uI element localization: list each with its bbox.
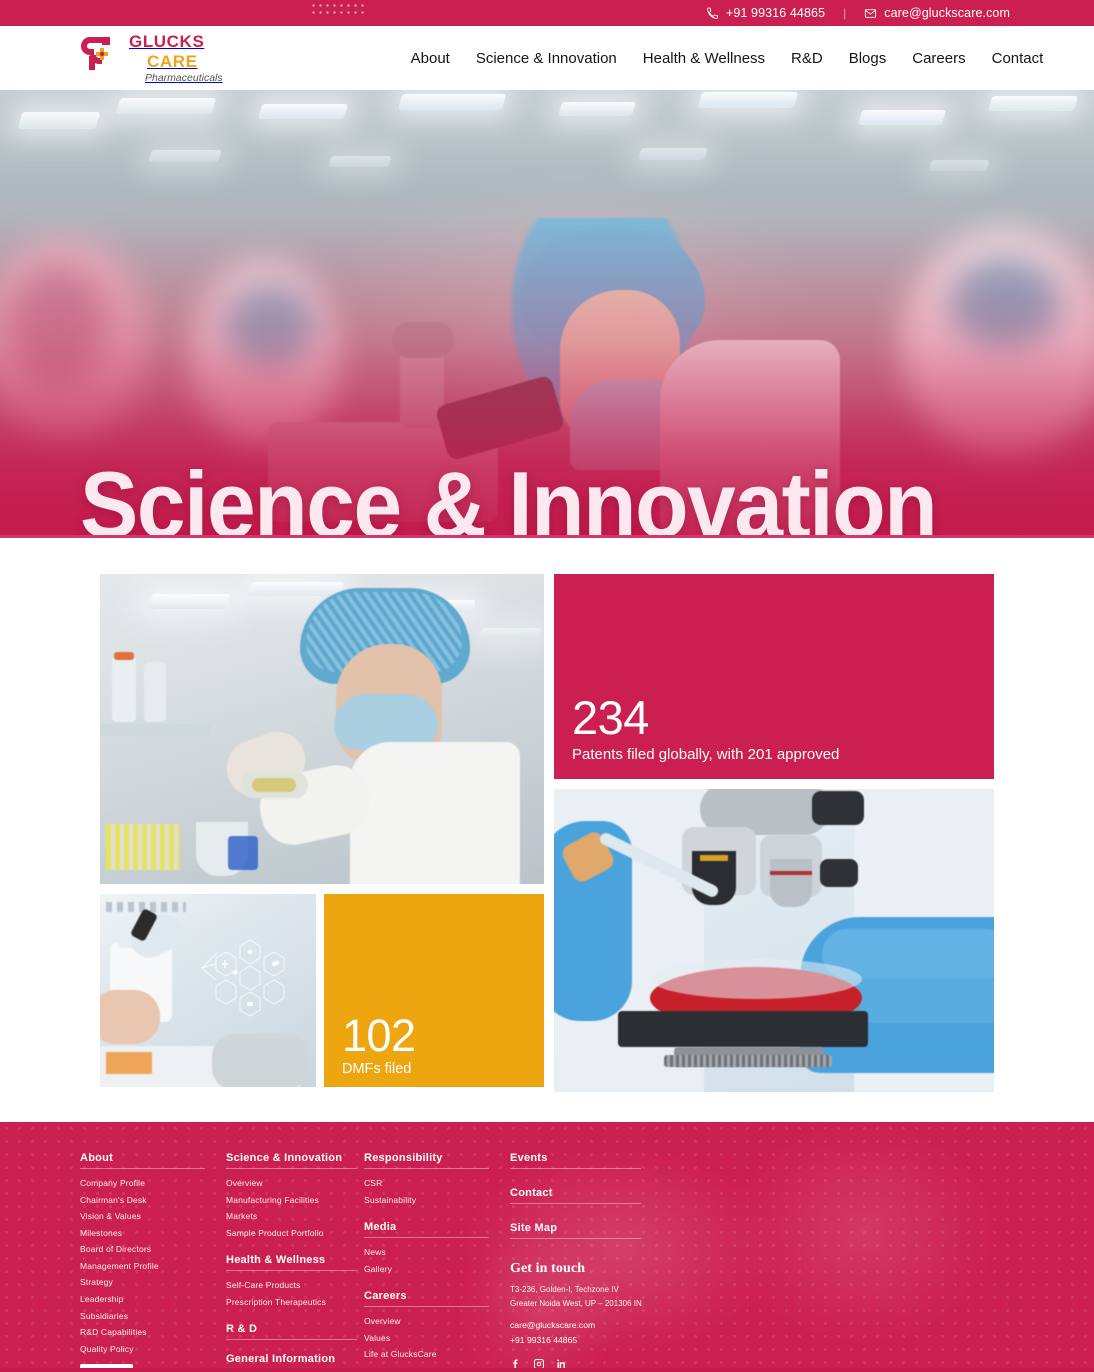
topbar-phone-text: +91 99316 44865 (726, 6, 825, 20)
footer-link-rnd-capabilities[interactable]: R&D Capabilities (80, 1324, 226, 1341)
grid-right-column: 234 Patents filed globally, with 201 app… (554, 574, 994, 1092)
main-content: 102 DMFs filed 234 Patents filed globall… (0, 538, 1094, 1122)
brand-line-3: Pharmaceuticals (129, 73, 223, 84)
pill-bottle-tech-photo (100, 894, 316, 1087)
footer-address-line-2: Greater Noida West, UP – 201306 IN (510, 1297, 650, 1311)
hero-bottom-rule (0, 535, 1094, 538)
footer-link-gallery[interactable]: Gallery (364, 1261, 510, 1278)
footer-heading-rnd: R & D (226, 1323, 357, 1340)
site-footer: About Company Profile Chairman's Desk Vi… (0, 1122, 1094, 1368)
footer-column-science: Science & Innovation Overview Manufactur… (226, 1152, 364, 1368)
footer-link-board-of-directors[interactable]: Board of Directors (80, 1241, 226, 1258)
site-header: GLUCKS CARE Pharmaceuticals About Scienc… (0, 26, 1094, 90)
topbar-email-link[interactable]: care@gluckscare.com (864, 6, 1010, 20)
footer-link-sustainability[interactable]: Sustainability (364, 1192, 510, 1209)
footer-link-company-profile[interactable]: Company Profile (80, 1175, 226, 1192)
hero-title: Science & Innovation (80, 458, 936, 538)
microscope-petri-photo (554, 789, 994, 1092)
stat-label-dmfs: DMFs filed (342, 1061, 544, 1077)
phone-icon (706, 7, 719, 20)
footer-link-vision-values[interactable]: Vision & Values (80, 1208, 226, 1225)
footer-link-management-profile[interactable]: Management Profile (80, 1258, 226, 1275)
brand-logo[interactable]: GLUCKS CARE Pharmaceuticals (80, 32, 223, 84)
footer-heading-about: About (80, 1152, 205, 1169)
footer-heading-responsibility: Responsibility (364, 1152, 489, 1169)
footer-bottom-bar: © 2025 All rights reserved by Gluckscare… (0, 1368, 1094, 1372)
scientist-petri-dish-photo (100, 574, 544, 884)
footer-email-link[interactable]: care@gluckscare.com (510, 1318, 650, 1333)
brand-line-2: CARE (129, 53, 223, 70)
top-contact-bar: +91 99316 44865 | care@gluckscare.com (0, 0, 1094, 26)
stat-card-patents: 234 Patents filed globally, with 201 app… (554, 574, 994, 779)
footer-link-milestones[interactable]: Milestones (80, 1225, 226, 1242)
mail-icon (864, 7, 877, 20)
topbar-email-text: care@gluckscare.com (884, 6, 1010, 20)
footer-heading-health-wellness: Health & Wellness (226, 1254, 357, 1271)
footer-link-careers-overview[interactable]: Overview (364, 1313, 510, 1330)
footer-address-line-1: T3-236, Golden-I, Techzone IV (510, 1283, 650, 1297)
glucks-g-cross-logo-icon (80, 34, 120, 74)
footer-column-about: About Company Profile Chairman's Desk Vi… (80, 1152, 226, 1368)
footer-phone-link[interactable]: +91 99316 44865 (510, 1333, 650, 1348)
topbar-phone-link[interactable]: +91 99316 44865 (706, 6, 825, 20)
footer-link-sample-product-portfolio[interactable]: Sample Product Portfolio (226, 1225, 364, 1242)
linkedin-icon[interactable] (556, 1358, 568, 1368)
stat-value-patents: 234 (572, 694, 994, 742)
footer-link-markets[interactable]: Markets (226, 1208, 364, 1225)
footer-link-prescription-therapeutics[interactable]: Prescription Therapeutics (226, 1294, 364, 1311)
nav-item-contact[interactable]: Contact (992, 50, 1044, 67)
footer-heading-general-information: General Information (226, 1353, 357, 1368)
stat-value-dmfs: 102 (342, 1013, 544, 1059)
grid-left-bottom-row: 102 DMFs filed (100, 894, 544, 1087)
nav-item-blogs[interactable]: Blogs (849, 50, 887, 67)
footer-link-values[interactable]: Values (364, 1330, 510, 1347)
footer-link-csr[interactable]: CSR (364, 1175, 510, 1192)
get-in-touch-heading: Get in touch (510, 1261, 650, 1277)
decorative-dot-grid (310, 0, 364, 14)
footer-heading-science-innovation: Science & Innovation (226, 1152, 357, 1169)
instagram-icon[interactable] (533, 1358, 545, 1368)
nav-item-rnd[interactable]: R&D (791, 50, 823, 67)
footer-link-si-overview[interactable]: Overview (226, 1175, 364, 1192)
footer-heading-contact: Contact (510, 1187, 641, 1204)
topbar-separator: | (843, 6, 846, 20)
science-innovation-grid: 102 DMFs filed 234 Patents filed globall… (100, 574, 994, 1092)
footer-link-news[interactable]: News (364, 1244, 510, 1261)
footer-column-responsibility: Responsibility CSR Sustainability Media … (364, 1152, 510, 1368)
footer-heading-site-map: Site Map (510, 1222, 641, 1239)
footer-link-self-care-products[interactable]: Self-Care Products (226, 1277, 364, 1294)
hero-banner: Science & Innovation (0, 90, 1094, 538)
brand-line-1: GLUCKS (129, 33, 223, 50)
footer-link-leadership[interactable]: Leadership (80, 1291, 226, 1308)
main-navigation: About Science & Innovation Health & Well… (411, 50, 1044, 67)
footer-heading-events: Events (510, 1152, 641, 1169)
nav-item-about[interactable]: About (411, 50, 450, 67)
footer-social-links (510, 1358, 650, 1368)
stat-label-patents: Patents filed globally, with 201 approve… (572, 746, 994, 763)
footer-link-life-at-gluckscare[interactable]: Life at GlucksCare (364, 1346, 510, 1363)
facebook-icon[interactable] (510, 1358, 522, 1368)
nav-item-health-wellness[interactable]: Health & Wellness (643, 50, 765, 67)
nav-item-careers[interactable]: Careers (912, 50, 965, 67)
footer-link-strategy[interactable]: Strategy (80, 1274, 226, 1291)
footer-heading-media: Media (364, 1221, 489, 1238)
footer-link-manufacturing-facilities[interactable]: Manufacturing Facilities (226, 1192, 364, 1209)
footer-link-subsidiaries[interactable]: Subsidiaries (80, 1308, 226, 1325)
footer-column-contact: Events Contact Site Map Get in touch T3-… (510, 1152, 650, 1368)
footer-link-chairmans-desk[interactable]: Chairman's Desk (80, 1192, 226, 1209)
nav-item-science-innovation[interactable]: Science & Innovation (476, 50, 617, 67)
stat-card-dmfs: 102 DMFs filed (324, 894, 544, 1087)
footer-heading-careers: Careers (364, 1290, 489, 1307)
footer-link-quality-policy[interactable]: Quality Policy (80, 1341, 226, 1358)
grid-left-column: 102 DMFs filed (100, 574, 544, 1092)
